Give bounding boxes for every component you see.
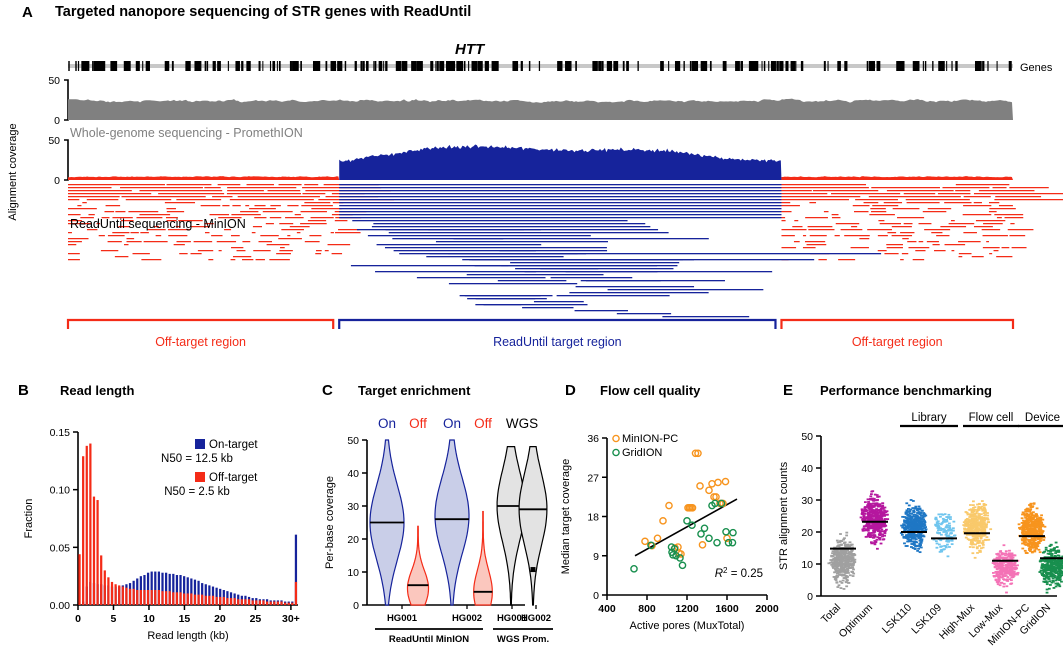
strip-point: [839, 565, 842, 567]
strip-point: [999, 554, 1002, 556]
strip-point: [842, 539, 845, 541]
gene-exon-mark: [878, 61, 881, 71]
off-target-read: [994, 250, 999, 251]
off-target-read: [77, 205, 81, 206]
off-target-read: [249, 208, 276, 209]
off-target-read: [287, 205, 298, 206]
strip-point: [835, 576, 838, 578]
strip-point: [986, 536, 989, 538]
strip-point: [838, 563, 841, 565]
strip-point: [1058, 573, 1061, 575]
strip-point: [843, 542, 846, 544]
off-target-read: [335, 232, 361, 233]
strip-point: [901, 534, 904, 536]
strip-point: [883, 525, 886, 527]
gene-exon-mark: [241, 61, 242, 71]
off-target-read: [332, 253, 342, 254]
off-target-read: [989, 253, 992, 254]
strip-point: [847, 556, 850, 558]
strip-point: [1034, 525, 1037, 527]
strip-point: [873, 540, 876, 542]
off-target-read: [781, 217, 785, 218]
strip-point: [875, 526, 878, 528]
gene-exon-mark: [75, 61, 76, 71]
panel-b-x-tick-label: 5: [111, 613, 117, 625]
gene-exon-mark: [609, 61, 612, 71]
strip-point: [1050, 559, 1053, 561]
strip-point: [872, 503, 875, 505]
off-target-bar: [158, 590, 160, 605]
off-target-read: [254, 217, 266, 218]
strip-point: [985, 523, 988, 525]
off-target-read: [803, 235, 806, 236]
strip-point: [1029, 548, 1032, 550]
on-target-read: [375, 271, 536, 272]
strip-point: [1031, 517, 1034, 519]
off-target-read: [242, 259, 253, 260]
strip-point: [905, 517, 908, 519]
strip-point: [901, 527, 904, 529]
strip-point: [880, 543, 883, 545]
strip-point: [842, 580, 845, 582]
strip-point: [879, 510, 882, 512]
on-target-read: [551, 277, 633, 278]
strip-point: [1010, 577, 1013, 579]
off-target-read: [126, 238, 134, 239]
strip-point: [983, 535, 986, 537]
off-target-read: [191, 253, 202, 254]
strip-point: [1022, 531, 1025, 533]
strip-point: [983, 530, 986, 532]
strip-point: [861, 513, 864, 515]
gene-exon-mark: [690, 61, 692, 71]
gene-exon-mark: [925, 61, 926, 71]
strip-point: [946, 521, 949, 523]
strip-point: [846, 576, 849, 578]
strip-point: [974, 557, 977, 559]
scatter-point: [715, 479, 721, 485]
gene-exon-mark: [217, 61, 221, 71]
strip-point: [952, 521, 955, 523]
off-target-read: [176, 241, 190, 242]
off-target-read: [301, 205, 333, 206]
strip-point: [1040, 567, 1043, 569]
strip-point: [1039, 540, 1042, 542]
off-target-read: [315, 253, 321, 254]
strip-point: [983, 515, 986, 517]
panel-c-group-label: WGS Prom.: [497, 634, 549, 645]
panel-e-y-axis-label: STR alignment counts: [778, 461, 790, 570]
strip-point: [883, 510, 886, 512]
strip-point: [843, 569, 846, 571]
off-target-read: [68, 190, 132, 191]
strip-point: [947, 541, 950, 543]
strip-point: [849, 574, 852, 576]
scatter-point: [730, 530, 736, 536]
off-target-read: [212, 196, 232, 197]
off-target-read: [841, 229, 863, 230]
strip-point: [966, 525, 969, 527]
scatter-point: [706, 487, 712, 493]
off-target-read: [831, 193, 900, 194]
strip-point: [1032, 521, 1035, 523]
violin-group-toplabel: On: [443, 416, 461, 431]
readuntil-track-caption: ReadUntil sequencing - MinION: [70, 217, 246, 231]
off-target-read: [266, 223, 274, 224]
panel-b-x-tick-label: 20: [214, 613, 226, 625]
strip-point: [834, 561, 837, 563]
strip-point: [920, 542, 923, 544]
gene-exon-mark: [978, 61, 979, 71]
strip-point: [852, 557, 855, 559]
panel-b-y-tick-label: 0.05: [50, 542, 71, 554]
off-target-read: [174, 244, 185, 245]
off-target-read: [867, 229, 892, 230]
off-target-read: [68, 208, 97, 209]
strip-point: [884, 507, 887, 509]
off-target-bar: [259, 600, 261, 605]
off-target-read: [115, 211, 125, 212]
strip-point: [969, 546, 972, 548]
strip-point: [905, 512, 908, 514]
strip-point: [868, 506, 871, 508]
off-target-read: [168, 235, 187, 236]
strip-point: [916, 518, 919, 520]
panel-d-x-tick-label: 1600: [715, 603, 739, 615]
strip-point: [881, 506, 884, 508]
scatter-point: [631, 566, 637, 572]
strip-point: [1045, 547, 1048, 549]
off-target-read: [99, 235, 105, 236]
strip-point: [1021, 526, 1024, 528]
strip-point: [1009, 573, 1012, 575]
strip-point: [908, 536, 911, 538]
strip-point: [919, 533, 922, 535]
off-target-read: [179, 253, 187, 254]
strip-point: [869, 509, 872, 511]
off-target-read: [956, 184, 1010, 185]
legend-marker: [613, 435, 619, 441]
off-target-bar: [165, 591, 167, 605]
off-target-read: [222, 205, 229, 206]
off-target-read: [167, 211, 184, 212]
strip-point: [836, 572, 839, 574]
off-target-read: [279, 250, 292, 251]
strip-point: [1038, 525, 1041, 527]
gene-exon-mark: [259, 61, 261, 71]
off-target-read: [781, 202, 790, 203]
gene-exon-mark: [124, 61, 131, 71]
strip-point: [852, 554, 855, 556]
panel-b-x-tick-label: 10: [143, 613, 155, 625]
off-target-read: [958, 241, 981, 242]
off-target-read: [253, 250, 270, 251]
scatter-point: [714, 540, 720, 546]
strip-point: [981, 528, 984, 530]
strip-point: [839, 560, 842, 562]
strip-point: [837, 542, 840, 544]
off-target-read: [900, 232, 914, 233]
strip-point: [979, 550, 982, 552]
strip-point: [940, 529, 943, 531]
off-target-bar: [234, 598, 236, 605]
strip-point: [1026, 508, 1029, 510]
off-target-read: [993, 187, 1007, 188]
on-target-read: [557, 295, 670, 296]
strip-point: [935, 519, 938, 521]
strip-point: [1000, 564, 1003, 566]
strip-point: [970, 508, 973, 510]
panel-b-y-tick-label: 0.15: [50, 427, 71, 439]
readuntil-offtarget-coverage-right: [781, 176, 1013, 180]
gene-exon-mark: [751, 61, 754, 71]
gene-exon-mark: [78, 61, 79, 71]
off-target-read: [902, 253, 908, 254]
on-target-read: [436, 241, 608, 242]
gene-exon-mark: [446, 61, 449, 71]
strip-point: [919, 537, 922, 539]
strip-point: [839, 574, 842, 576]
off-target-read: [859, 238, 869, 239]
panel-e-plot: 01020304050STR alignment countsTotalOpti…: [775, 400, 1063, 650]
strip-point: [1002, 586, 1005, 588]
strip-point: [970, 541, 973, 543]
off-target-read: [974, 226, 993, 227]
gene-exon-mark: [411, 61, 414, 71]
gene-exon-mark: [213, 61, 216, 71]
off-target-read: [994, 199, 1063, 200]
strip-point: [886, 510, 889, 512]
strip-point: [945, 534, 948, 536]
off-target-read: [983, 235, 1008, 236]
strip-point: [1039, 551, 1042, 553]
off-target-read: [68, 199, 79, 200]
off-target-read: [781, 196, 860, 197]
region-bracket: [68, 320, 333, 329]
strip-point: [910, 543, 913, 545]
off-target-read: [227, 193, 301, 194]
gene-exon-mark: [165, 61, 166, 71]
panel-c-y-tick-label: 30: [347, 501, 359, 513]
off-target-bar: [197, 595, 199, 605]
off-target-read: [301, 211, 327, 212]
readuntil-offtarget-coverage-left: [68, 176, 339, 180]
off-target-read: [88, 214, 94, 215]
strip-point: [1033, 524, 1036, 526]
strip-point: [864, 501, 867, 503]
strip-point: [987, 521, 990, 523]
strip-point: [848, 553, 851, 555]
off-target-read: [247, 184, 274, 185]
off-target-read: [68, 232, 72, 233]
off-target-read: [267, 244, 290, 245]
strip-point: [1040, 570, 1043, 572]
panel-b-y-tick-label: 0.00: [50, 600, 71, 612]
scatter-point: [706, 535, 712, 541]
strip-point: [985, 518, 988, 520]
strip-point: [978, 517, 981, 519]
strip-point: [1046, 592, 1049, 594]
gene-exon-mark: [337, 61, 342, 71]
off-target-bar: [252, 600, 254, 605]
wgs-coverage-area: [68, 99, 1013, 120]
scatter-point: [679, 562, 685, 568]
off-target-read: [996, 256, 1012, 257]
off-target-bar: [133, 589, 135, 605]
strip-point: [870, 491, 873, 493]
off-target-read: [994, 214, 1023, 215]
htt-gene-label: HTT: [455, 41, 486, 58]
off-target-read: [232, 205, 240, 206]
on-target-read: [339, 202, 781, 203]
strip-point: [1039, 531, 1042, 533]
strip-point: [985, 525, 988, 527]
off-target-read: [328, 244, 351, 245]
off-target-read: [227, 190, 264, 191]
off-target-read: [781, 184, 866, 185]
strip-point: [967, 520, 970, 522]
strip-point: [1030, 546, 1033, 548]
strip-point: [951, 543, 954, 545]
strip-point: [1053, 587, 1056, 589]
strip-point: [923, 520, 926, 522]
strip-point: [877, 514, 880, 516]
panel-c-y-axis-label: Per-base coverage: [324, 476, 336, 569]
off-target-bar: [114, 584, 116, 605]
panel-b-y-axis-label: Fraction: [23, 499, 35, 539]
gene-exon-mark: [464, 61, 466, 71]
strip-point: [1014, 565, 1017, 567]
strip-point: [972, 546, 975, 548]
strip-point: [1029, 504, 1032, 506]
strip-point: [1018, 523, 1021, 525]
off-target-read: [906, 199, 970, 200]
off-target-bar: [125, 588, 127, 605]
gene-exon-mark: [762, 61, 763, 71]
strip-point: [829, 562, 832, 564]
strip-point: [1056, 577, 1059, 579]
axis-tick-0-wgs: 0: [54, 115, 60, 127]
panel-e-y-tick-label: 10: [801, 559, 813, 571]
off-target-read: [832, 217, 841, 218]
on-target-read: [586, 280, 725, 281]
strip-point: [1030, 506, 1033, 508]
strip-point: [1039, 560, 1042, 562]
off-target-read: [959, 253, 972, 254]
strip-point: [921, 528, 924, 530]
off-target-read: [908, 247, 929, 248]
gene-exon-mark: [375, 61, 377, 71]
off-target-read: [959, 256, 963, 257]
off-target-read: [915, 250, 925, 251]
off-target-bar: [136, 590, 138, 605]
strip-point: [1026, 513, 1029, 515]
gene-exon-mark: [837, 61, 841, 71]
strip-point: [840, 550, 843, 552]
off-target-read: [810, 235, 827, 236]
strip-point: [1024, 544, 1027, 546]
strip-point: [1011, 572, 1014, 574]
strip-point: [1055, 542, 1058, 544]
strip-point: [874, 515, 877, 517]
off-target-read: [878, 220, 884, 221]
strip-point: [978, 509, 981, 511]
off-target-read: [68, 187, 112, 188]
strip-point: [1038, 549, 1041, 551]
strip-point: [987, 539, 990, 541]
gene-exon-mark: [345, 61, 346, 71]
off-target-read: [305, 241, 320, 242]
gene-exon-mark: [946, 61, 947, 71]
off-target-bar: [104, 570, 106, 605]
gene-exon-mark: [468, 61, 469, 71]
gene-exon-mark: [801, 61, 803, 71]
gene-exon-mark: [913, 61, 920, 71]
off-target-read: [68, 193, 151, 194]
gene-exon-mark: [764, 61, 765, 71]
gene-exon-mark: [94, 61, 98, 71]
strip-point: [1005, 550, 1008, 552]
strip-point: [1034, 531, 1037, 533]
strip-point: [877, 518, 880, 520]
on-target-read: [339, 217, 781, 218]
scatter-point: [666, 502, 672, 508]
strip-point: [1012, 564, 1015, 566]
strip-point: [1005, 564, 1008, 566]
strip-point: [1039, 533, 1042, 535]
off-target-read: [803, 247, 816, 248]
panel-c-plot: 01020304050Per-base coverageOnOffOnOffWG…: [315, 400, 565, 650]
strip-point: [982, 544, 985, 546]
strip-point: [1056, 546, 1059, 548]
strip-point: [972, 504, 975, 506]
gene-exon-mark: [270, 61, 271, 71]
on-target-read: [525, 271, 658, 272]
off-target-read: [933, 244, 940, 245]
r-squared-annotation: R2 = 0.25: [715, 566, 763, 581]
strip-point: [1055, 583, 1058, 585]
strip-point: [977, 528, 980, 530]
strip-point: [871, 505, 874, 507]
on-target-read: [569, 292, 708, 293]
off-target-read: [938, 193, 971, 194]
off-target-bar: [190, 593, 192, 605]
strip-point: [852, 575, 855, 577]
off-target-read: [68, 238, 89, 239]
strip-point: [918, 545, 921, 547]
strip-point: [910, 529, 913, 531]
gene-exon-mark: [196, 61, 200, 71]
strip-point: [908, 539, 911, 541]
off-target-read: [82, 202, 86, 203]
gene-exon-mark: [701, 61, 707, 71]
on-target-read: [373, 223, 645, 224]
gene-exon-mark: [315, 61, 316, 71]
strip-point: [913, 538, 916, 540]
off-target-read: [781, 199, 849, 200]
off-target-read: [805, 241, 825, 242]
gene-exon-mark: [740, 61, 742, 71]
strip-point: [877, 506, 880, 508]
strip-point: [1012, 557, 1015, 559]
off-target-bar: [161, 591, 163, 605]
strip-point: [1033, 546, 1036, 548]
strip-point: [968, 529, 971, 531]
off-target-read: [855, 199, 898, 200]
strip-point: [914, 506, 917, 508]
strip-point: [864, 510, 867, 512]
strip-point: [920, 540, 923, 542]
